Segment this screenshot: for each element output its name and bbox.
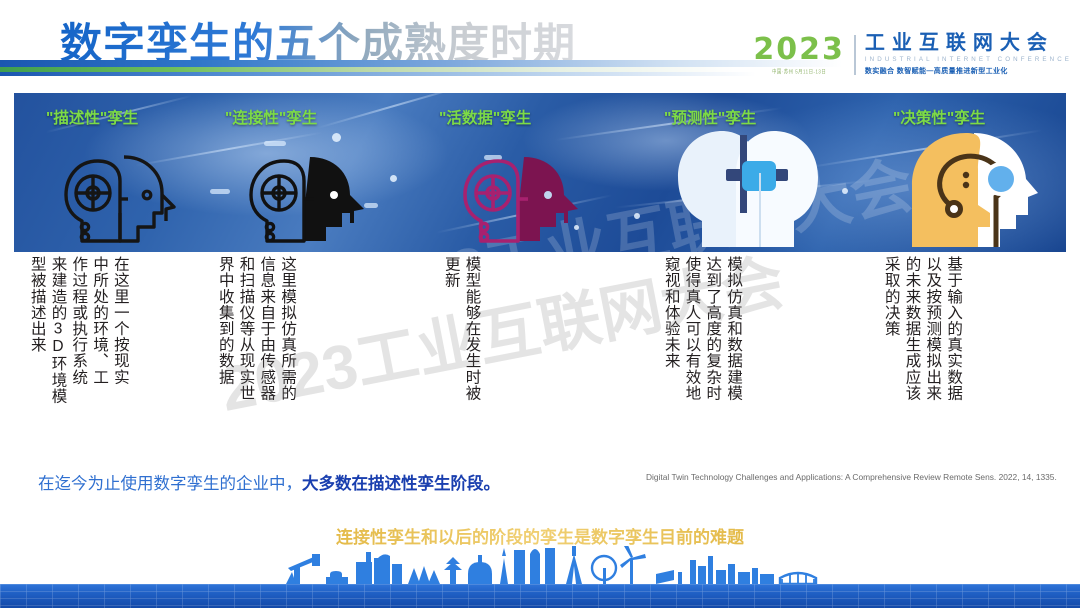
twin-head-white-vr-icon [668, 125, 828, 252]
dot-decor [634, 213, 640, 219]
description-column-5: 基于输入的真实数据 以及按预测模拟出来 的未来数据生成应该 采取的决策 [880, 256, 963, 401]
description-line: 这里模拟仿真所需的 [276, 256, 297, 401]
description-line: 型被描述出来 [26, 256, 47, 404]
description-line: 采取的决策 [880, 256, 901, 401]
description-line: 模拟仿真和数据建模 [722, 256, 743, 401]
twin-head-outline-icon [62, 151, 187, 252]
logo-divider [854, 35, 856, 75]
logo-year: 2023 [753, 35, 845, 65]
description-line: 以及按预测模拟出来 [922, 256, 943, 401]
summary-emphasis: 大多数在描述性孪生阶段。 [302, 475, 500, 493]
twin-head-orange-brain-icon [904, 129, 1044, 252]
twin-head-solid-black-icon [246, 151, 374, 252]
conference-logo: 2023 中国·苏州 5月11日-13日 工业互联网大会 INDUSTRIAL … [753, 33, 1072, 76]
description-column-3: 模型能够在发生时被 更新 [440, 256, 482, 401]
dot-decor [390, 175, 397, 182]
logo-name-cn: 工业互联网大会 [865, 33, 1072, 53]
logo-name-block: 工业互联网大会 INDUSTRIAL INTERNET CONFERENCE 数… [865, 33, 1072, 76]
summary-prefix: 在迄今为止使用数字孪生的企业中， [38, 475, 302, 493]
description-line: 模型能够在发生时被 [461, 256, 482, 401]
twin-head-magenta-icon [460, 151, 588, 252]
description-column-4: 模拟仿真和数据建模 达到了高度的复杂时 使得真人可以有效地 窥视和体验未来 [660, 256, 743, 401]
logo-slogan: 数实融合 数智赋能—高质量推进新型工业化 [865, 66, 1072, 76]
description-line: 更新 [440, 256, 461, 401]
description-line: 和扫描仪等从现实世 [235, 256, 256, 401]
logo-year-block: 2023 中国·苏州 5月11日-13日 [753, 35, 854, 75]
description-line: 界中收集到的数据 [214, 256, 235, 401]
description-line: 窥视和体验未来 [660, 256, 681, 401]
phase-label-decisive: "决策性"孪生 [893, 106, 985, 128]
description-line: 信息来自于由传感器 [256, 256, 277, 401]
logo-name-en: INDUSTRIAL INTERNET CONFERENCE [865, 56, 1072, 63]
description-line: 使得真人可以有效地 [681, 256, 702, 401]
description-line: 作过程或执行系统 [68, 256, 89, 404]
summary-text: 在迄今为止使用数字孪生的企业中，大多数在描述性孪生阶段。 [38, 470, 500, 494]
description-line: 在这里一个按现实 [109, 256, 130, 404]
footer-grid [0, 584, 1080, 608]
dot-decor [842, 188, 848, 194]
description-line: 来建造的3D环境模 [47, 256, 68, 404]
page-header: 数字孪生的五个成熟度时期 2023 中国·苏州 5月11日-13日 工业互联网大… [0, 0, 1080, 92]
skyline-graphic [0, 546, 1080, 586]
dot-decor [332, 133, 341, 142]
phase-label-livedata: "活数据"孪生 [439, 106, 531, 128]
dash-decor [264, 141, 286, 146]
description-line: 的未来数据生成应该 [901, 256, 922, 401]
footer-skyline [0, 546, 1080, 608]
citation-text: Digital Twin Technology Challenges and A… [646, 472, 1057, 482]
description-column-2: 这里模拟仿真所需的 信息来自于由传感器 和扫描仪等从现实世 界中收集到的数据 [214, 256, 297, 401]
description-column-1: 在这里一个按现实 中所处的环境、工 作过程或执行系统 来建造的3D环境模 型被描… [26, 256, 130, 404]
phase-label-descriptive: "描述性"孪生 [46, 106, 138, 128]
dash-decor [210, 189, 230, 194]
highlight-text: 连接性孪生和以后的阶段的孪生是数字孪生目前的难题 [0, 523, 1080, 548]
maturity-banner: 2023工业互联网大会 "描述性"孪生 "连接性"孪生 "活数据"孪生 "预测性… [14, 93, 1066, 252]
description-columns: 在这里一个按现实 中所处的环境、工 作过程或执行系统 来建造的3D环境模 型被描… [0, 256, 1080, 456]
description-line: 中所处的环境、工 [88, 256, 109, 404]
description-line: 达到了高度的复杂时 [702, 256, 723, 401]
phase-label-connected: "连接性"孪生 [225, 106, 317, 128]
description-line: 基于输入的真实数据 [942, 256, 963, 401]
logo-date: 中国·苏州 5月11日-13日 [753, 68, 845, 76]
footer-ground [0, 584, 1080, 608]
